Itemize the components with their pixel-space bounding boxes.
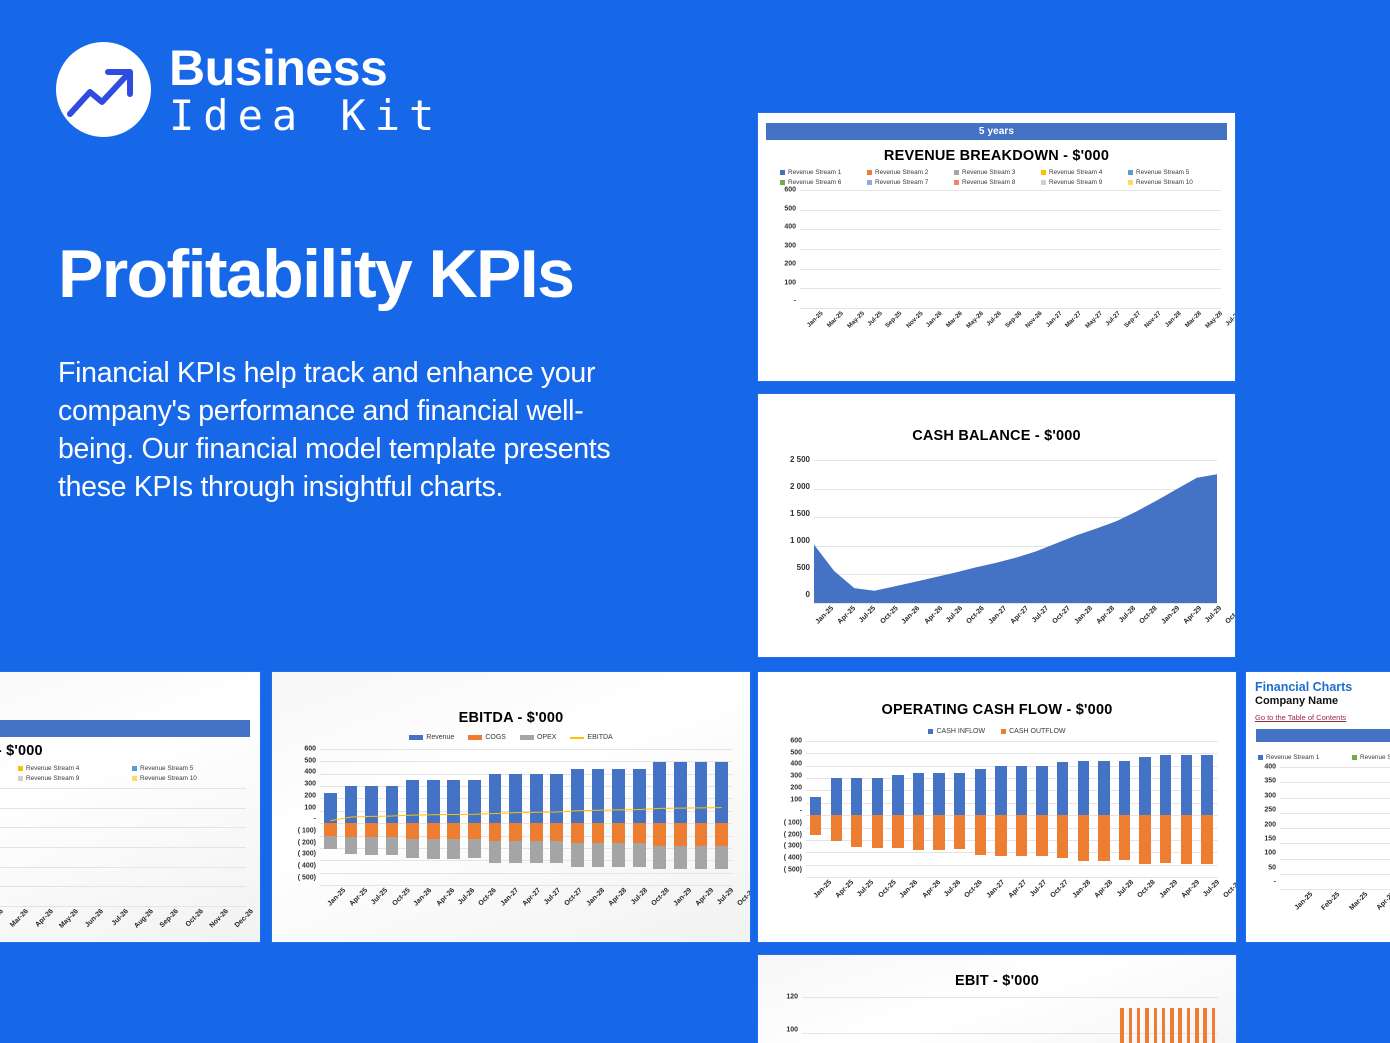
bar-segment	[995, 815, 1006, 856]
legend-swatch	[468, 735, 482, 740]
bar-column	[1123, 190, 1130, 308]
bar-segment	[975, 769, 986, 815]
legend-item: Revenue Stream 8	[954, 179, 1015, 186]
bar-column	[898, 190, 905, 308]
bar-segment	[1187, 1008, 1190, 1043]
bar-column	[1200, 190, 1207, 308]
bar-segment	[1119, 815, 1130, 860]
bar-segment	[995, 766, 1006, 815]
revenue-plot: 600500400300200100-	[766, 190, 1225, 308]
legend-item: Revenue Stream 2	[867, 169, 928, 176]
bar-column	[1074, 741, 1095, 877]
bar-segment	[1201, 755, 1212, 815]
legend-item: Revenue Stream 4	[1041, 169, 1102, 176]
bar-segment	[831, 815, 842, 840]
legend-swatch	[1352, 755, 1357, 760]
bar-column	[1168, 997, 1176, 1043]
bar-segment	[913, 773, 924, 815]
bar-column	[1176, 997, 1184, 1043]
bar-segment	[1139, 757, 1150, 815]
financial-charts-company: Company Name	[1255, 695, 1390, 707]
y-tick: ( 100)	[280, 828, 316, 835]
bar-column	[1026, 997, 1034, 1043]
bar-column	[847, 741, 868, 877]
revenue24-chart-title: REAKDOWN - $'000	[0, 743, 260, 759]
bar-segment	[1181, 815, 1192, 863]
bar-column	[960, 997, 968, 1043]
legend-label: CASH OUTFLOW	[1009, 728, 1065, 735]
cash-y-axis: 2 5002 0001 5001 0005000	[772, 460, 814, 603]
y-tick: 1 500	[772, 510, 810, 518]
bar-segment	[933, 773, 944, 815]
legend-swatch	[1258, 755, 1263, 760]
revenue24-legend: Revenue Stream 3Revenue Stream 4Revenue …	[0, 765, 260, 782]
ebit-plot: 12010080	[766, 997, 1222, 1043]
brand-logo: Business Idea Kit	[56, 42, 443, 137]
bar-column	[806, 741, 827, 877]
y-tick: 200	[766, 261, 796, 268]
bar-segment	[954, 815, 965, 849]
bar-column	[1172, 190, 1179, 308]
bar-column	[827, 741, 848, 877]
bar-column	[989, 190, 996, 308]
bar-column	[912, 190, 919, 308]
bar-column	[891, 190, 898, 308]
y-tick: 400	[766, 761, 802, 768]
bar-column	[1186, 190, 1193, 308]
bar-column	[868, 741, 889, 877]
legend-label: OPEX	[537, 734, 556, 741]
y-tick: ( 300)	[766, 843, 802, 850]
legend-label: Revenue Stream 5	[140, 765, 193, 772]
legend-label: COGS	[485, 734, 506, 741]
legend-swatch	[520, 735, 534, 740]
ebitda-y-axis: 600500400300200100-( 100)( 200)( 300)( 4…	[280, 749, 320, 885]
bar-column	[952, 997, 960, 1043]
bar-column	[1151, 190, 1158, 308]
bar-column	[1076, 997, 1084, 1043]
bar-column	[48, 788, 73, 906]
ebitda-x-axis: Jan-25Apr-25Jul-25Oct-25Jan-26Apr-26Jul-…	[320, 885, 736, 921]
page-title: Profitability KPIs	[58, 240, 573, 309]
legend-label: Revenue Stream 2	[875, 169, 928, 176]
bar-column	[1074, 190, 1081, 308]
bar-segment	[1057, 762, 1068, 815]
bar-column	[1151, 997, 1159, 1043]
legend-label: Revenue Stream 4	[1049, 169, 1102, 176]
legend-item: Revenue Stream 4	[18, 765, 79, 772]
bar-column	[909, 741, 930, 877]
bar-segment	[851, 815, 862, 847]
bar-column	[842, 190, 849, 308]
bar-column	[197, 788, 222, 906]
bar-column	[985, 997, 993, 1043]
bar-column	[1053, 190, 1060, 308]
financial-charts-title: Financial Charts	[1255, 680, 1390, 694]
y-tick: -	[766, 298, 796, 305]
bar-column	[1110, 997, 1118, 1043]
bar-column	[993, 997, 1001, 1043]
y-tick: 600	[766, 738, 802, 745]
bar-column	[802, 997, 810, 1043]
legend-swatch	[867, 180, 872, 185]
bar-column	[73, 788, 98, 906]
financial-charts-plot: 40035030025020015010050-	[1250, 767, 1390, 889]
bar-column	[1115, 741, 1136, 877]
revenue24-plot	[0, 788, 250, 906]
cash-x-axis: Jan-25Apr-25Jul-25Oct-25Jan-26Apr-26Jul-…	[808, 603, 1221, 639]
bar-column	[1144, 190, 1151, 308]
bar-column	[1207, 190, 1214, 308]
bar-column	[977, 997, 985, 1043]
bar-column	[1017, 190, 1024, 308]
bar-column	[1214, 190, 1221, 308]
bar-segment	[1178, 1008, 1181, 1043]
bar-column	[1039, 190, 1046, 308]
bar-column	[971, 741, 992, 877]
y-tick: 50	[1250, 864, 1276, 871]
bar-column	[930, 741, 951, 877]
y-tick: 500	[772, 564, 810, 572]
bar-column	[933, 190, 940, 308]
bar-column	[1159, 997, 1167, 1043]
legend-item: Revenue Stream 10	[132, 775, 197, 782]
bar-column	[844, 997, 852, 1043]
bar-column	[885, 997, 893, 1043]
bar-column	[24, 788, 49, 906]
bar-column	[1143, 997, 1151, 1043]
bar-column	[1102, 190, 1109, 308]
bar-column	[884, 190, 891, 308]
bar-column	[935, 997, 943, 1043]
panel-ebitda: EBITDA - $'000 RevenueCOGSOPEXEBITDA 600…	[272, 672, 750, 942]
legend-swatch	[570, 737, 584, 739]
bar-segment	[1119, 761, 1130, 815]
bar-column	[1012, 741, 1033, 877]
bar-column	[870, 190, 877, 308]
bar-column	[827, 997, 835, 1043]
bar-column	[807, 190, 814, 308]
bar-column	[950, 741, 971, 877]
revenue24-x-axis: Oct-25Dec-25Jan-26Feb-26Mar-26Apr-26May-…	[0, 906, 250, 942]
bar-segment	[1170, 1008, 1173, 1043]
bar-column	[122, 788, 147, 906]
page-description: Financial KPIs help track and enhance yo…	[58, 355, 648, 507]
y-tick: ( 200)	[766, 831, 802, 838]
bar-column	[1193, 190, 1200, 308]
bar-column	[1136, 741, 1157, 877]
bar-column	[1060, 997, 1068, 1043]
revenue-chart-title: REVENUE BREAKDOWN - $'000	[758, 148, 1235, 164]
panel-financial-charts: Financial Charts Company Name Go to the …	[1246, 672, 1390, 942]
bar-column	[877, 997, 885, 1043]
bar-column	[1081, 190, 1088, 308]
growth-arrow-icon	[56, 42, 151, 137]
y-tick: 300	[280, 781, 316, 788]
revenue-x-axis: Jan-25Mar-25May-25Jul-25Sep-25Nov-25Jan-…	[800, 308, 1221, 344]
bar-column	[1201, 997, 1209, 1043]
bar-column	[856, 190, 863, 308]
bar-column	[947, 190, 954, 308]
y-tick: ( 500)	[766, 866, 802, 873]
bar-segment	[1016, 815, 1027, 856]
bar-column	[860, 997, 868, 1043]
y-tick: 400	[280, 769, 316, 776]
legend-swatch	[954, 180, 959, 185]
legend-label: Revenue Stream 10	[140, 775, 197, 782]
legend-item: Revenue Stream 6	[1352, 754, 1390, 761]
bar-column	[1209, 997, 1217, 1043]
bar-segment	[1195, 1008, 1198, 1043]
y-tick: 600	[280, 746, 316, 753]
bar-column	[1280, 767, 1308, 889]
financial-charts-band	[1256, 729, 1390, 742]
legend-item: Revenue Stream 9	[1041, 179, 1102, 186]
bar-column	[863, 190, 870, 308]
bar-column	[1046, 190, 1053, 308]
legend-swatch	[780, 180, 785, 185]
legend-label: Revenue	[426, 734, 454, 741]
bar-column	[961, 190, 968, 308]
y-tick: ( 200)	[280, 839, 316, 846]
legend-item: Revenue Stream 10	[1128, 179, 1193, 186]
bar-column	[1088, 190, 1095, 308]
bar-column	[869, 997, 877, 1043]
cash-plot: 2 5002 0001 5001 0005000	[772, 460, 1221, 603]
bar-column	[828, 190, 835, 308]
legend-item: Revenue Stream 7	[867, 179, 928, 186]
table-of-contents-link[interactable]: Go to the Table of Contents	[1255, 713, 1346, 722]
hero-section: Business Idea Kit Profitability KPIs Fin…	[0, 0, 700, 672]
bar-segment	[1203, 1008, 1206, 1043]
y-tick: 200	[766, 784, 802, 791]
legend-label: CASH INFLOW	[936, 728, 985, 735]
legend-swatch	[1128, 180, 1133, 185]
y-tick: ( 300)	[280, 851, 316, 858]
bar-column	[800, 190, 807, 308]
y-tick: 600	[766, 187, 796, 194]
bar-column	[1193, 997, 1201, 1043]
y-tick: 100	[766, 796, 802, 803]
legend-item: Revenue	[409, 734, 454, 741]
legend-item: Revenue Stream 1	[1258, 754, 1319, 761]
cash-chart-title: CASH BALANCE - $'000	[758, 428, 1235, 444]
bar-column	[1101, 997, 1109, 1043]
bar-column	[927, 997, 935, 1043]
panel-cash-balance: CASH BALANCE - $'000 2 5002 0001 5001 00…	[758, 394, 1235, 657]
legend-swatch	[132, 766, 137, 771]
bar-column	[905, 190, 912, 308]
legend-swatch	[928, 729, 933, 734]
bar-column	[1335, 767, 1363, 889]
bar-segment	[1181, 755, 1192, 816]
y-tick: ( 400)	[766, 855, 802, 862]
legend-item: OPEX	[520, 734, 556, 741]
bar-column	[918, 997, 926, 1043]
panel-ebit: EBIT - $'000 12010080	[758, 955, 1236, 1043]
y-tick: -	[280, 816, 316, 823]
bar-column	[1018, 997, 1026, 1043]
brand-name-primary: Business	[169, 43, 443, 93]
legend-item: EBITDA	[570, 734, 612, 741]
legend-item: Revenue Stream 6	[780, 179, 841, 186]
bar-segment	[872, 815, 883, 847]
bar-column	[968, 997, 976, 1043]
ebitda-line-series	[320, 749, 732, 885]
y-tick: ( 400)	[280, 863, 316, 870]
bar-column	[1118, 997, 1126, 1043]
legend-label: Revenue Stream 9	[26, 775, 79, 782]
bar-column	[1095, 190, 1102, 308]
ebitda-legend: RevenueCOGSOPEXEBITDA	[272, 734, 750, 741]
bar-segment	[1154, 1008, 1157, 1043]
bar-column	[991, 741, 1012, 877]
bar-column	[819, 997, 827, 1043]
y-tick: 2 500	[772, 456, 810, 464]
bar-column	[1002, 997, 1010, 1043]
revenue-legend: Revenue Stream 1Revenue Stream 2Revenue …	[758, 169, 1235, 186]
bar-column	[919, 190, 926, 308]
bar-column	[1130, 190, 1137, 308]
bar-column	[982, 190, 989, 308]
bar-column	[940, 190, 947, 308]
bar-column	[1003, 190, 1010, 308]
revenue-y-axis: 600500400300200100-	[766, 190, 800, 308]
legend-swatch	[409, 735, 423, 740]
y-tick: ( 100)	[766, 820, 802, 827]
bar-column	[1135, 997, 1143, 1043]
bar-column	[1116, 190, 1123, 308]
bar-segment	[1098, 815, 1109, 861]
bar-column	[1197, 741, 1218, 877]
bar-column	[954, 190, 961, 308]
cash-area-series	[814, 460, 1217, 603]
ebit-y-axis: 12010080	[766, 997, 802, 1043]
legend-swatch	[18, 776, 23, 781]
legend-label: Revenue Stream 1	[788, 169, 841, 176]
legend-swatch	[18, 766, 23, 771]
y-tick: 400	[766, 224, 796, 231]
legend-swatch	[1041, 170, 1046, 175]
financial-charts-y-axis: 40035030025020015010050-	[1250, 767, 1280, 889]
legend-item: Revenue Stream 5	[132, 765, 193, 772]
ebitda-chart-title: EBITDA - $'000	[272, 710, 750, 726]
bar-segment	[1078, 815, 1089, 861]
legend-item: Revenue Stream 5	[1128, 169, 1189, 176]
panel-operating-cash-flow: OPERATING CASH FLOW - $'000 CASH INFLOWC…	[758, 672, 1236, 942]
y-tick: 100	[766, 279, 796, 286]
y-tick: 0	[772, 591, 810, 599]
bar-column	[1051, 997, 1059, 1043]
bar-column	[821, 190, 828, 308]
y-tick: 250	[1250, 807, 1276, 814]
legend-swatch	[1041, 180, 1046, 185]
bar-column	[1010, 190, 1017, 308]
y-tick: 200	[1250, 821, 1276, 828]
bar-segment	[1036, 815, 1047, 856]
financial-charts-x-axis: Jan-25Feb-25Mar-25Apr-25May-25Jun-25	[1282, 889, 1390, 925]
bar-column	[1137, 190, 1144, 308]
ebit-chart-title: EBIT - $'000	[758, 973, 1236, 989]
bar-column	[1035, 997, 1043, 1043]
bar-segment	[1057, 815, 1068, 858]
y-tick: 150	[1250, 835, 1276, 842]
bar-column	[814, 190, 821, 308]
bar-column	[975, 190, 982, 308]
bar-column	[1179, 190, 1186, 308]
legend-swatch	[954, 170, 959, 175]
bar-column	[1156, 741, 1177, 877]
bar-column	[221, 788, 246, 906]
legend-label: Revenue Stream 6	[1360, 754, 1390, 761]
y-tick: 500	[280, 757, 316, 764]
bar-column	[1308, 767, 1336, 889]
y-tick: 1 000	[772, 537, 810, 545]
legend-item: Revenue Stream 3	[954, 169, 1015, 176]
bar-column	[1068, 997, 1076, 1043]
bar-column	[0, 788, 24, 906]
ocf-chart-title: OPERATING CASH FLOW - $'000	[758, 702, 1236, 718]
bar-segment	[1078, 761, 1089, 815]
y-tick: 120	[766, 994, 798, 1001]
bar-column	[888, 741, 909, 877]
bar-column	[1010, 997, 1018, 1043]
bar-segment	[892, 815, 903, 848]
financial-charts-legend: Revenue Stream 1Revenue Stream 6	[1246, 754, 1390, 761]
bar-segment	[810, 797, 821, 815]
legend-swatch	[780, 170, 785, 175]
bar-segment	[954, 773, 965, 815]
bar-column	[1060, 190, 1067, 308]
y-tick: 500	[766, 205, 796, 212]
bar-column	[926, 190, 933, 308]
bar-column	[1158, 190, 1165, 308]
bar-segment	[1137, 1008, 1140, 1043]
revenue24-period-band: 24 months	[0, 720, 250, 737]
y-tick: 2 000	[772, 483, 810, 491]
bar-segment	[1160, 755, 1171, 816]
legend-item: Revenue Stream 1	[780, 169, 841, 176]
legend-item: Revenue Stream 9	[18, 775, 79, 782]
legend-label: EBITDA	[587, 734, 612, 741]
bar-segment	[831, 778, 842, 815]
bar-column	[1033, 741, 1054, 877]
bar-segment	[1145, 1008, 1148, 1043]
bar-column	[1184, 997, 1192, 1043]
legend-label: Revenue Stream 6	[788, 179, 841, 186]
bar-segment	[1036, 766, 1047, 815]
bar-column	[810, 997, 818, 1043]
bar-segment	[1160, 815, 1171, 863]
bar-column	[849, 190, 856, 308]
bar-column	[1093, 997, 1101, 1043]
bar-column	[835, 997, 843, 1043]
legend-swatch	[1128, 170, 1133, 175]
bar-column	[893, 997, 901, 1043]
bar-column	[1032, 190, 1039, 308]
bar-segment	[1212, 1008, 1215, 1043]
bar-column	[996, 190, 1003, 308]
bar-column	[943, 997, 951, 1043]
bar-column	[910, 997, 918, 1043]
bar-segment	[1129, 1008, 1132, 1043]
y-tick: 300	[766, 773, 802, 780]
y-tick: 300	[1250, 792, 1276, 799]
legend-label: Revenue Stream 4	[26, 765, 79, 772]
bar-column	[902, 997, 910, 1043]
bar-column	[1067, 190, 1074, 308]
legend-label: Revenue Stream 8	[962, 179, 1015, 186]
